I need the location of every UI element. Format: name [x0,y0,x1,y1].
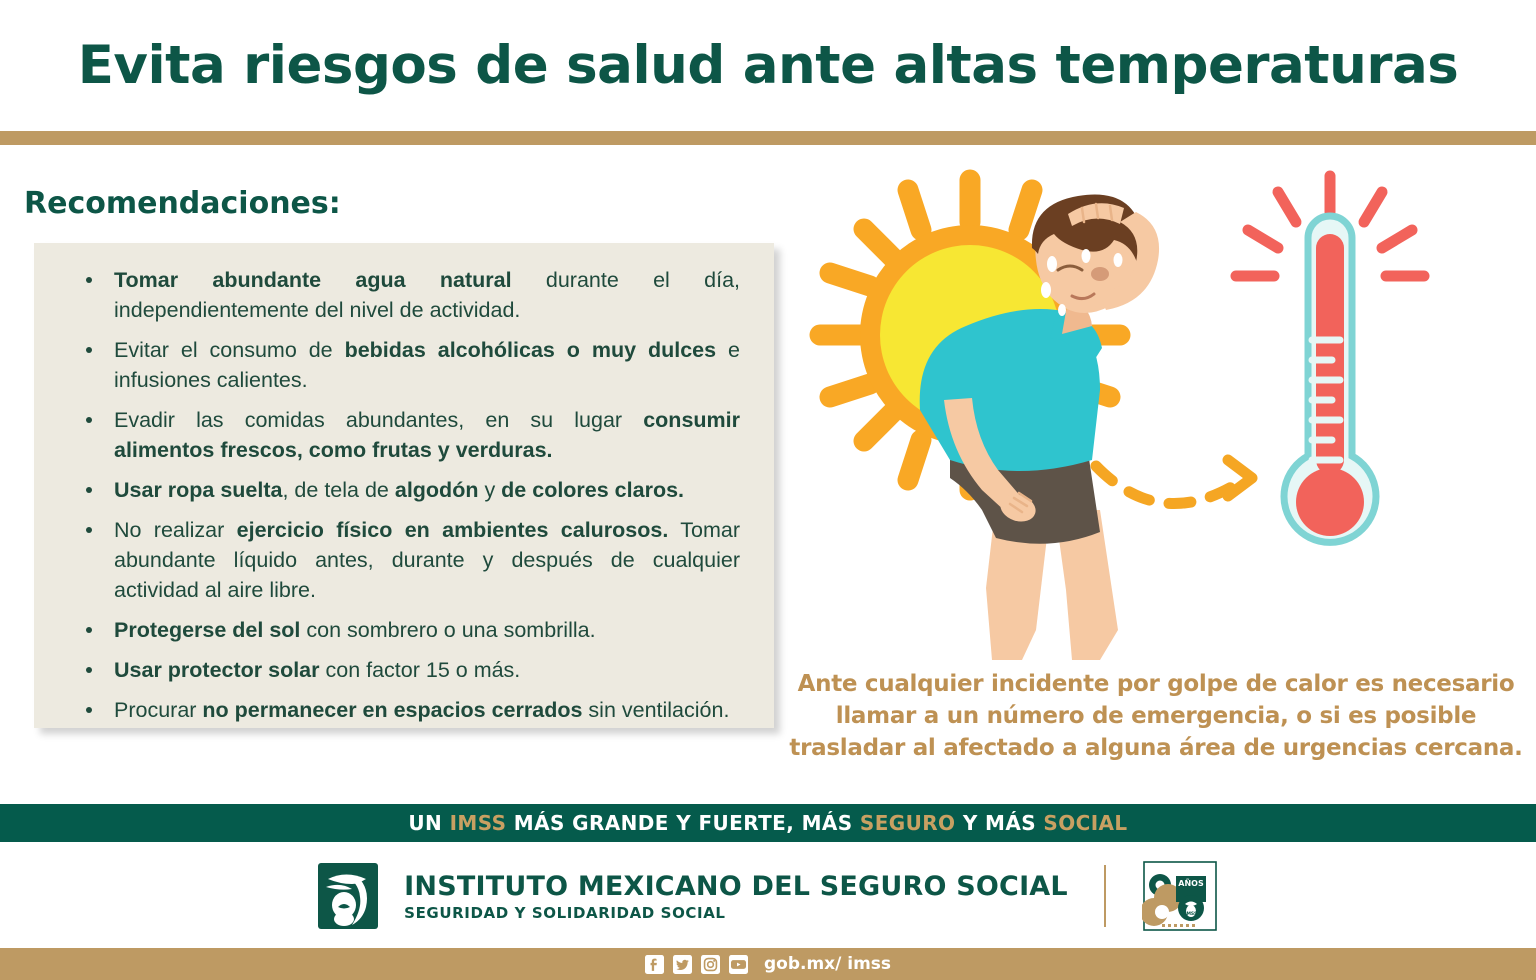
recommendation-item: Protegerse del sol con sombrero o una so… [80,615,740,645]
anniversary-word: AÑOS [1178,878,1204,888]
youtube-icon[interactable] [729,955,748,974]
recommendations-heading: Recomendaciones: [24,186,341,221]
dashed-curved-arrow-icon [1096,460,1252,504]
bullet-icon [86,707,92,713]
twitter-icon[interactable] [673,955,692,974]
heat-illustration [800,160,1500,660]
bullet-icon [86,487,92,493]
bullet-icon [86,627,92,633]
institute-name: INSTITUTO MEXICANO DEL SEGURO SOCIAL [404,871,1068,902]
facebook-icon[interactable] [645,955,664,974]
imss-logo-icon [318,863,378,929]
anniversary-80-logo-icon: AÑOS IMSS [1142,860,1218,932]
instagram-icon[interactable] [701,955,720,974]
institutional-logo-row: INSTITUTO MEXICANO DEL SEGURO SOCIAL SEG… [0,852,1536,940]
slogan-text: UN IMSS MÁS GRANDE Y FUERTE, MÁS SEGURO … [408,811,1127,835]
recommendation-item: Evadir las comidas abundantes, en su lug… [80,405,740,465]
vertical-divider [1104,865,1106,927]
gold-divider-rule [0,131,1536,145]
header: Evita riesgos de salud ante altas temper… [0,0,1536,130]
slogan-band: UN IMSS MÁS GRANDE Y FUERTE, MÁS SEGURO … [0,804,1536,842]
recommendations-list: Tomar abundante agua natural durante el … [80,265,740,725]
recommendations-card: Tomar abundante agua natural durante el … [34,243,774,728]
recommendation-item: Usar protector solar con factor 15 o más… [80,655,740,685]
recommendation-item: No realizar ejercicio físico en ambiente… [80,515,740,605]
bullet-icon [86,277,92,283]
bullet-icon [86,527,92,533]
svg-text:IMSS: IMSS [1185,911,1197,917]
bullet-icon [86,347,92,353]
recommendation-item: Procurar no permanecer en espacios cerra… [80,695,740,725]
social-url-text[interactable]: gob.mx/ imss [764,954,891,974]
social-media-band: gob.mx/ imss [0,948,1536,980]
institute-text-block: INSTITUTO MEXICANO DEL SEGURO SOCIAL SEG… [404,871,1068,922]
bullet-icon [86,417,92,423]
infographic-page: Evita riesgos de salud ante altas temper… [0,0,1536,980]
emergency-caption: Ante cualquier incidente por golpe de ca… [786,668,1526,764]
institute-tagline: SEGURIDAD Y SOLIDARIDAD SOCIAL [404,904,1068,922]
recommendation-item: Tomar abundante agua natural durante el … [80,265,740,325]
recommendation-item: Usar ropa suelta, de tela de algodón y d… [80,475,740,505]
recommendation-item: Evitar el consumo de bebidas alcohólicas… [80,335,740,395]
hot-thermometer-icon [1236,176,1424,542]
page-title: Evita riesgos de salud ante altas temper… [78,35,1459,96]
bullet-icon [86,667,92,673]
